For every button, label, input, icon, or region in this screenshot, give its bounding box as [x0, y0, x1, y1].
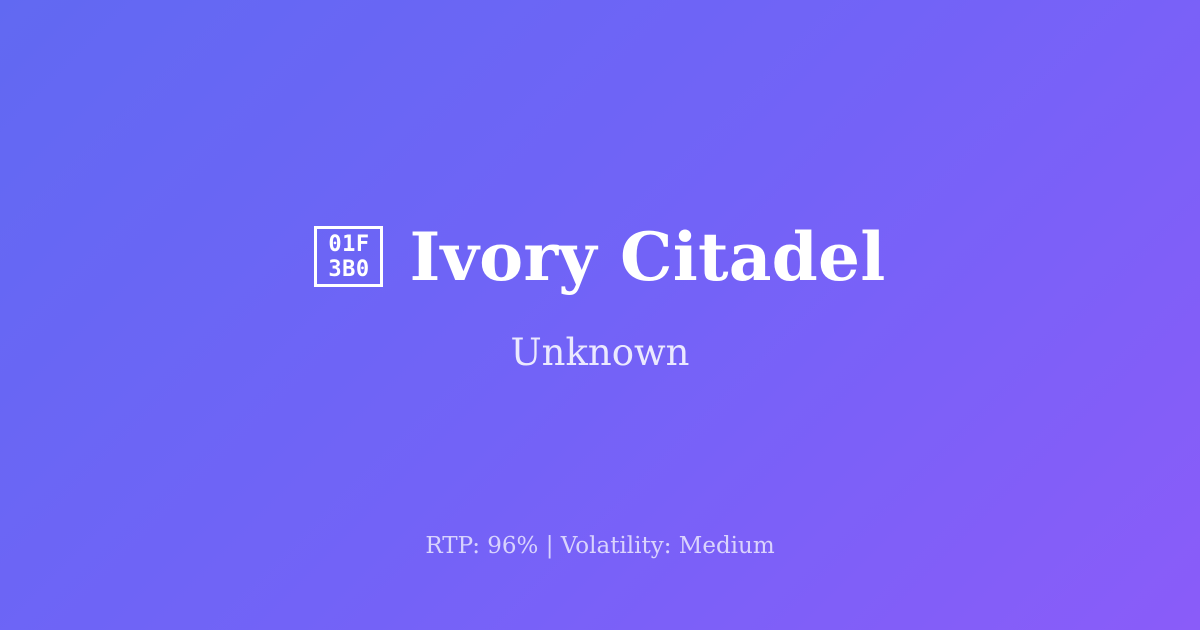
game-provider-subtitle: Unknown: [510, 334, 689, 371]
game-share-card: 01F 3B0 Ivory Citadel Unknown RTP: 96% |…: [0, 0, 1200, 630]
tofu-codepoint-bottom: 3B0: [328, 257, 369, 282]
title-row: 01F 3B0 Ivory Citadel: [314, 224, 885, 290]
game-meta-line: RTP: 96% | Volatility: Medium: [0, 535, 1200, 558]
tofu-codepoint-top: 01F: [328, 232, 369, 257]
slot-machine-icon: 01F 3B0: [314, 226, 383, 287]
page-title: Ivory Citadel: [409, 224, 885, 290]
